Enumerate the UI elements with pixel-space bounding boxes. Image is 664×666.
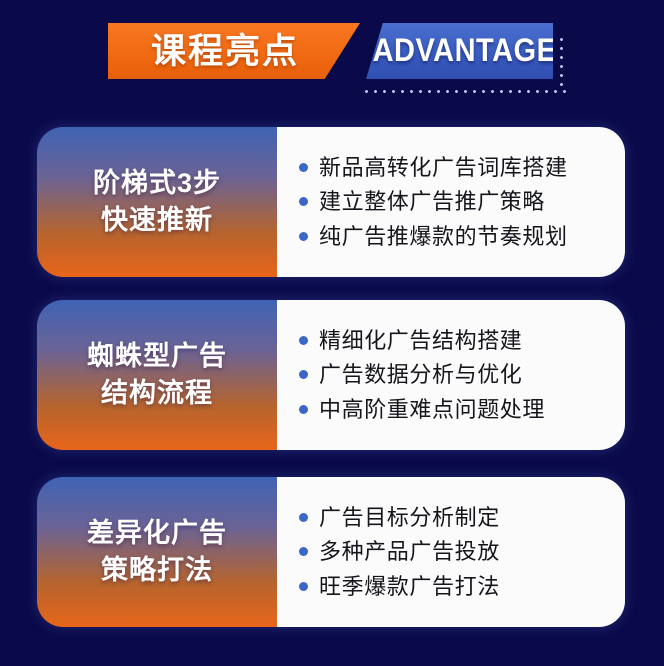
feature-card-title-line: 快速推新 — [101, 205, 213, 237]
bullet-dot-icon — [299, 197, 308, 206]
feature-card: 差异化广告 策略打法 广告目标分析制定 多种产品广告投放 旺季爆款广告打法 — [37, 477, 625, 627]
feature-card-bullet-panel: 广告目标分析制定 多种产品广告投放 旺季爆款广告打法 — [277, 477, 625, 627]
feature-card-title-line: 结构流程 — [101, 378, 213, 410]
bullet-dot-icon — [299, 370, 308, 379]
feature-card-title-panel: 蜘蛛型广告 结构流程 — [37, 300, 277, 450]
feature-card-title-line: 阶梯式3步 — [93, 168, 221, 200]
feature-card-bullet-panel: 新品高转化广告词库搭建 建立整体广告推广策略 纯广告推爆款的节奏规划 — [277, 127, 625, 277]
feature-card-bullet-panel: 精细化广告结构搭建 广告数据分析与优化 中高阶重难点问题处理 — [277, 300, 625, 450]
list-item: 广告目标分析制定 — [299, 505, 625, 531]
list-item: 广告数据分析与优化 — [299, 362, 625, 388]
bullet-dot-icon — [299, 336, 308, 345]
list-item: 建立整体广告推广策略 — [299, 189, 625, 215]
list-item-label: 广告数据分析与优化 — [319, 362, 522, 388]
banner-orange-section: 课程亮点 — [108, 23, 360, 79]
list-item-label: 建立整体广告推广策略 — [319, 189, 545, 215]
feature-card-title-line: 策略打法 — [101, 555, 213, 587]
header-banner: 课程亮点 ADVANTAGE — [0, 23, 664, 79]
list-item-label: 精细化广告结构搭建 — [319, 328, 522, 354]
bullet-dot-icon — [299, 547, 308, 556]
list-item: 新品高转化广告词库搭建 — [299, 155, 625, 181]
list-item-label: 纯广告推爆款的节奏规划 — [319, 224, 568, 250]
list-item-label: 中高阶重难点问题处理 — [319, 397, 545, 423]
banner-blue-section: ADVANTAGE — [366, 23, 553, 79]
feature-card: 蜘蛛型广告 结构流程 精细化广告结构搭建 广告数据分析与优化 中高阶重难点问题处… — [37, 300, 625, 450]
list-item-label: 多种产品广告投放 — [319, 539, 500, 565]
feature-card-title-line: 差异化广告 — [87, 518, 227, 550]
feature-card-title-panel: 差异化广告 策略打法 — [37, 477, 277, 627]
dotted-decoration-bottom-icon — [362, 87, 566, 96]
banner-orange-label: 课程亮点 — [151, 34, 299, 69]
bullet-dot-icon — [299, 582, 308, 591]
list-item: 纯广告推爆款的节奏规划 — [299, 224, 625, 250]
list-item: 多种产品广告投放 — [299, 539, 625, 565]
bullet-dot-icon — [299, 163, 308, 172]
list-item-label: 新品高转化广告词库搭建 — [319, 155, 568, 181]
list-item: 精细化广告结构搭建 — [299, 328, 625, 354]
banner-blue-label: ADVANTAGE — [373, 35, 557, 67]
feature-card-title-line: 蜘蛛型广告 — [87, 341, 227, 373]
dotted-decoration-right-icon — [557, 35, 566, 91]
list-item: 中高阶重难点问题处理 — [299, 397, 625, 423]
bullet-dot-icon — [299, 232, 308, 241]
list-item-label: 旺季爆款广告打法 — [319, 574, 500, 600]
bullet-dot-icon — [299, 405, 308, 414]
list-item-label: 广告目标分析制定 — [319, 505, 500, 531]
bullet-dot-icon — [299, 513, 308, 522]
feature-card-title-panel: 阶梯式3步 快速推新 — [37, 127, 277, 277]
list-item: 旺季爆款广告打法 — [299, 574, 625, 600]
feature-card: 阶梯式3步 快速推新 新品高转化广告词库搭建 建立整体广告推广策略 纯广告推爆款… — [37, 127, 625, 277]
